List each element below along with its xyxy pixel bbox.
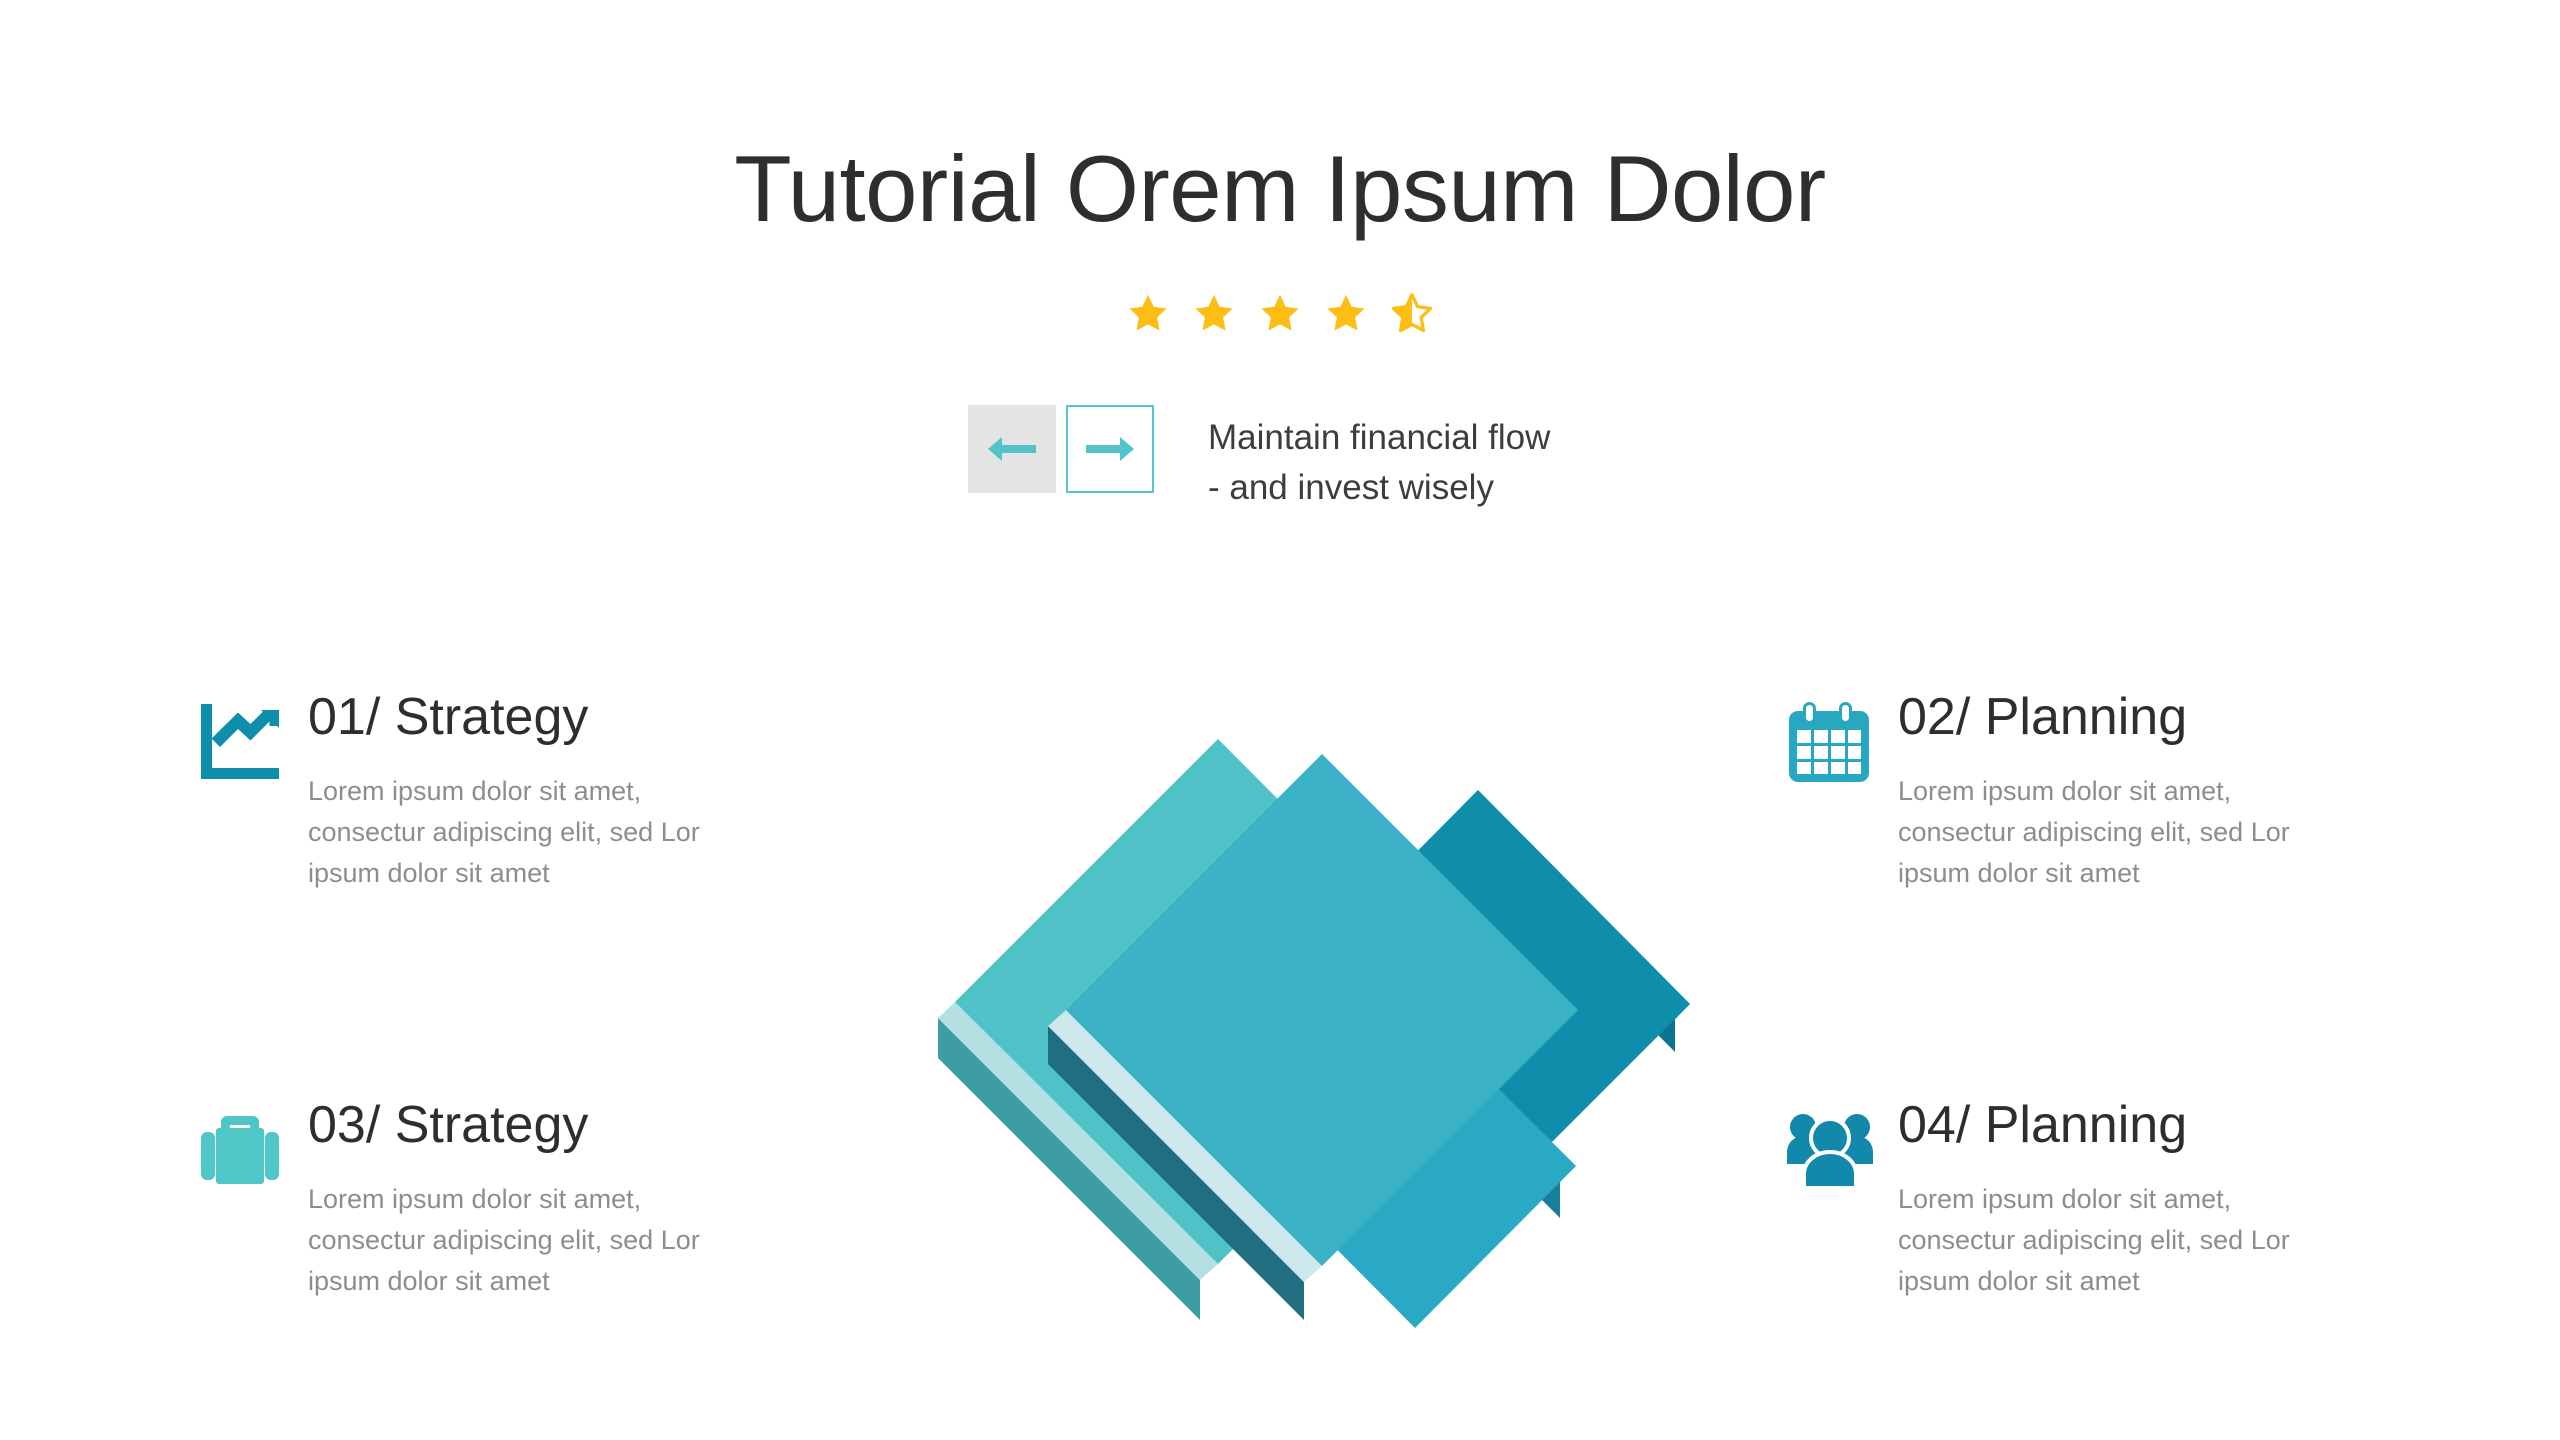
header: Tutorial Orem Ipsum Dolor: [0, 140, 2560, 239]
feature-item-04[interactable]: 04/ Planning Lorem ipsum dolor sit amet,…: [1768, 1098, 2290, 1302]
feature-body-01: 01/ Strategy Lorem ipsum dolor sit amet,…: [302, 690, 700, 894]
star-icon: [1259, 292, 1301, 334]
feature-body-02: 02/ Planning Lorem ipsum dolor sit amet,…: [1892, 690, 2290, 894]
feature-item-01[interactable]: 01/ Strategy Lorem ipsum dolor sit amet,…: [178, 690, 700, 894]
feature-description-02: Lorem ipsum dolor sit amet, consectur ad…: [1898, 771, 2290, 894]
calendar-icon: [1768, 690, 1892, 784]
people-group-icon: [1768, 1098, 1892, 1188]
arrow-left-icon: [986, 433, 1038, 465]
feature-description-01: Lorem ipsum dolor sit amet, consectur ad…: [308, 771, 700, 894]
feature-item-03[interactable]: 03/ Strategy Lorem ipsum dolor sit amet,…: [178, 1098, 700, 1302]
star-half-icon: [1391, 292, 1433, 334]
nav-and-tagline: Maintain financial flow - and invest wis…: [968, 405, 1550, 514]
next-button[interactable]: [1066, 405, 1154, 493]
feature-description-03: Lorem ipsum dolor sit amet, consectur ad…: [308, 1179, 700, 1302]
tagline-text: Maintain financial flow - and invest wis…: [1208, 405, 1550, 514]
arrow-right-icon: [1084, 433, 1136, 465]
feature-heading-02: 02/ Planning: [1898, 690, 2290, 745]
page-title: Tutorial Orem Ipsum Dolor: [0, 140, 2560, 239]
star-rating: [0, 292, 2560, 334]
star-icon: [1127, 292, 1169, 334]
feature-heading-04: 04/ Planning: [1898, 1098, 2290, 1153]
slide-root: Tutorial Orem Ipsum Dolor: [0, 0, 2560, 1440]
star-icon: [1325, 292, 1367, 334]
feature-body-03: 03/ Strategy Lorem ipsum dolor sit amet,…: [302, 1098, 700, 1302]
feature-heading-01: 01/ Strategy: [308, 690, 700, 745]
feature-description-04: Lorem ipsum dolor sit amet, consectur ad…: [1898, 1179, 2290, 1302]
growth-chart-icon: [178, 690, 302, 782]
feature-item-02[interactable]: 02/ Planning Lorem ipsum dolor sit amet,…: [1768, 690, 2290, 894]
prev-button[interactable]: [968, 405, 1056, 493]
feature-heading-03: 03/ Strategy: [308, 1098, 700, 1153]
feature-body-04: 04/ Planning Lorem ipsum dolor sit amet,…: [1892, 1098, 2290, 1302]
star-icon: [1193, 292, 1235, 334]
overlapping-diamonds-illustration: [900, 660, 1700, 1360]
briefcase-icon: [178, 1098, 302, 1190]
